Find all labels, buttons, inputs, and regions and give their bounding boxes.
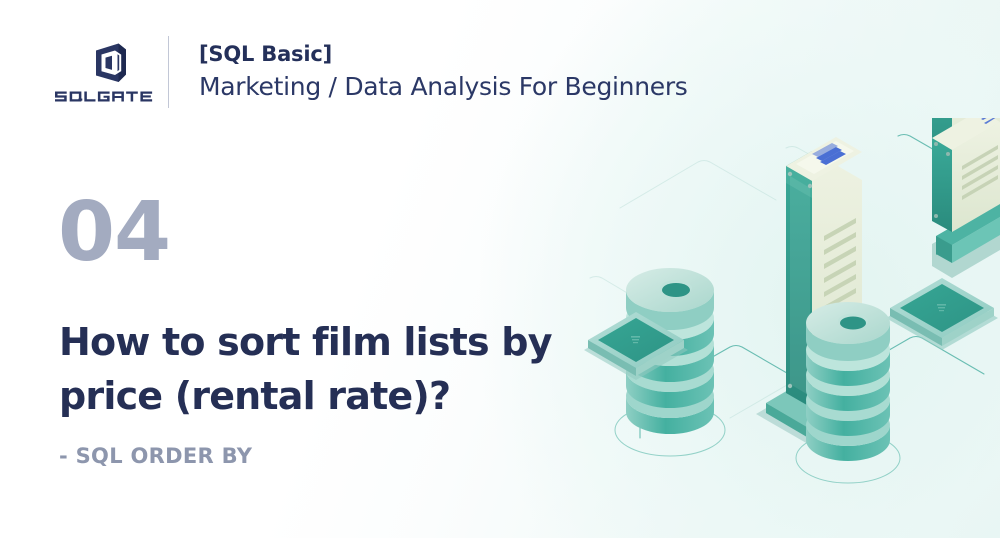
server-tower-back <box>932 118 1000 278</box>
isometric-illustration <box>580 118 1000 538</box>
slide-header: [SQL Basic] Marketing / Data Analysis Fo… <box>64 36 688 108</box>
database-cylinder-right <box>796 302 900 483</box>
lesson-number: 04 <box>58 192 170 274</box>
header-text-block: [SQL Basic] Marketing / Data Analysis Fo… <box>199 41 688 104</box>
page-subtitle: - SQL ORDER BY <box>59 444 252 468</box>
slide-canvas: [SQL Basic] Marketing / Data Analysis Fo… <box>0 0 1000 538</box>
sqlgate-gate-logo-icon <box>88 41 132 85</box>
page-title-line-2: price (rental rate)? <box>59 370 619 424</box>
page-title-line-1: How to sort film lists by <box>59 316 619 370</box>
brand-logo <box>64 41 156 103</box>
sqlgate-wordmark-icon <box>55 90 165 103</box>
course-subject-label: Marketing / Data Analysis For Beginners <box>199 70 688 104</box>
header-divider <box>168 36 169 108</box>
page-title: How to sort film lists by price (rental … <box>59 316 619 424</box>
course-level-label: [SQL Basic] <box>199 41 688 67</box>
chip-board-right <box>886 278 998 350</box>
